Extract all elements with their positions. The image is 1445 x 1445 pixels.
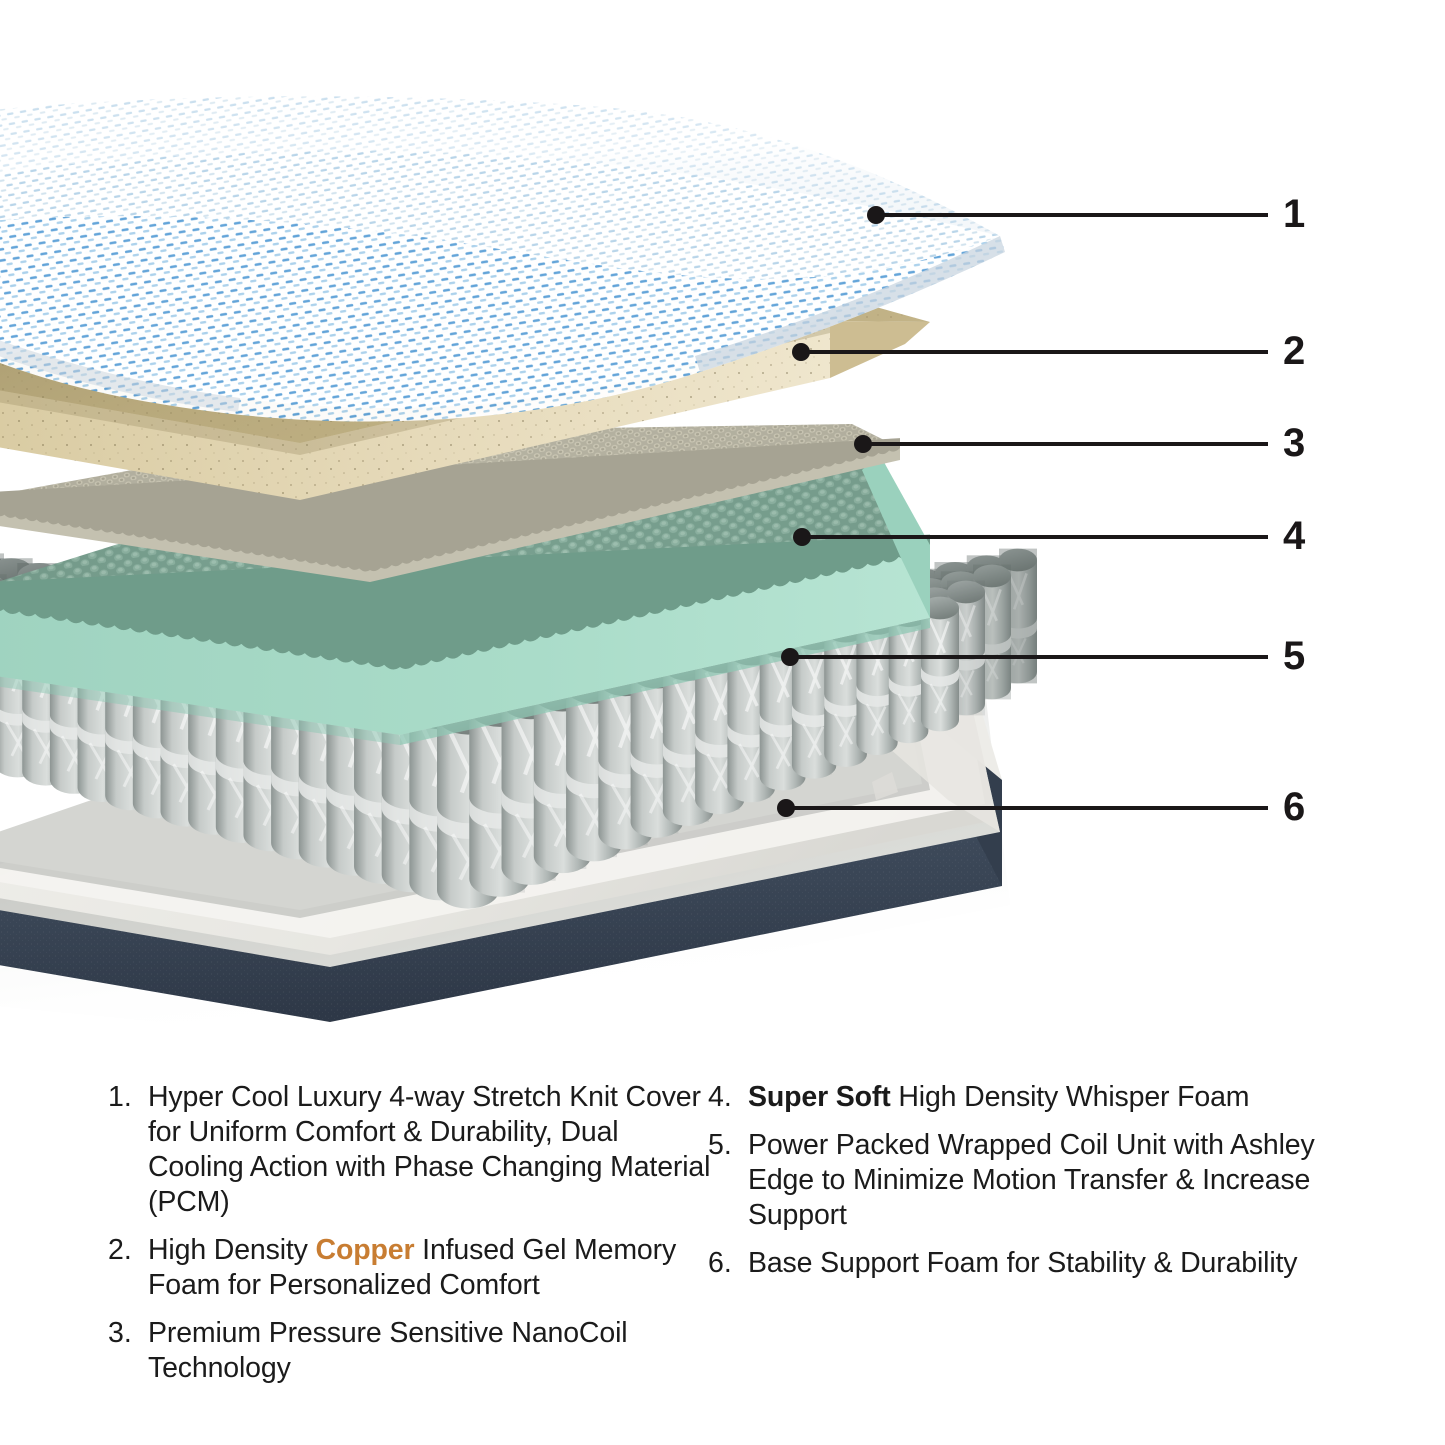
legend-text-2: High Density Copper Infused Gel Memory F… <box>148 1233 718 1303</box>
legend-number-1: 1. <box>108 1080 148 1115</box>
mattress-cutaway-illustration <box>0 0 1445 1060</box>
layer-knit-cover <box>0 96 1005 421</box>
layer-legend: 1. Hyper Cool Luxury 4-way Stretch Knit … <box>0 1080 1445 1445</box>
legend-column-left: 1. Hyper Cool Luxury 4-way Stretch Knit … <box>108 1080 718 1445</box>
legend-column-right: 4. Super Soft High Density Whisper Foam … <box>708 1080 1328 1445</box>
legend-text-5: Power Packed Wrapped Coil Unit with Ashl… <box>748 1128 1328 1233</box>
legend-text-6: Base Support Foam for Stability & Durabi… <box>748 1246 1328 1281</box>
legend-item-2: 2. High Density Copper Infused Gel Memor… <box>108 1233 718 1303</box>
legend-number-6: 6. <box>708 1246 748 1281</box>
legend-item-1: 1. Hyper Cool Luxury 4-way Stretch Knit … <box>108 1080 718 1220</box>
legend-number-2: 2. <box>108 1233 148 1268</box>
legend-number-5: 5. <box>708 1128 748 1163</box>
legend-item-5: 5. Power Packed Wrapped Coil Unit with A… <box>708 1128 1328 1233</box>
legend-number-3: 3. <box>108 1316 148 1351</box>
legend-number-4: 4. <box>708 1080 748 1115</box>
legend-item-3: 3. Premium Pressure Sensitive NanoCoil T… <box>108 1316 718 1386</box>
mattress-layer-diagram: 1 2 3 4 5 6 <box>0 0 1445 1060</box>
legend-item-6: 6. Base Support Foam for Stability & Dur… <box>708 1246 1328 1281</box>
legend-text-1: Hyper Cool Luxury 4-way Stretch Knit Cov… <box>148 1080 718 1220</box>
legend-text-4: Super Soft High Density Whisper Foam <box>748 1080 1328 1115</box>
legend-item-4: 4. Super Soft High Density Whisper Foam <box>708 1080 1328 1115</box>
legend-text-3: Premium Pressure Sensitive NanoCoil Tech… <box>148 1316 718 1386</box>
